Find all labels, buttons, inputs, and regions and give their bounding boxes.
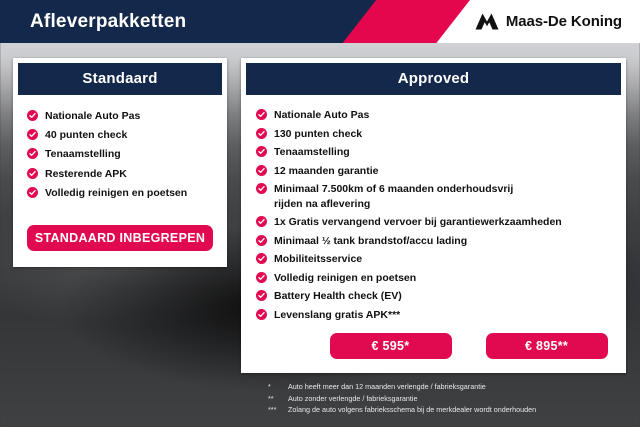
feature-text: Volledig reinigen en poetsen xyxy=(274,271,416,285)
feature-text-line: Nationale Auto Pas xyxy=(274,108,369,122)
feature-item: Volledig reinigen en poetsen xyxy=(256,269,626,288)
footnote-marker: *** xyxy=(268,404,288,416)
feature-text: Resterende APK xyxy=(45,167,127,181)
check-circle-icon xyxy=(256,183,267,194)
check-circle-icon xyxy=(27,187,38,198)
feature-text: Tenaamstelling xyxy=(274,145,350,159)
footnote-row: *Auto heeft meer dan 12 maanden verlengd… xyxy=(268,381,628,393)
feature-text-line: Levenslang gratis APK*** xyxy=(274,308,400,322)
feature-text-line: rijden na aflevering xyxy=(274,197,513,211)
feature-text-line: 40 punten check xyxy=(45,128,127,142)
feature-text: Minimaal 7.500km of 6 maanden onderhouds… xyxy=(274,182,513,210)
feature-text: Mobiliteitsservice xyxy=(274,252,362,266)
feature-item: Nationale Auto Pas xyxy=(256,106,626,125)
feature-item: Tenaamstelling xyxy=(256,143,626,162)
feature-item: Minimaal ½ tank brandstof/accu lading xyxy=(256,231,626,250)
page-title: Afleverpakketten xyxy=(30,0,186,43)
footnote-text: Auto zonder verlengde / fabrieksgarantie xyxy=(288,393,417,405)
feature-text-line: Volledig reinigen en poetsen xyxy=(45,186,187,200)
feature-text-line: Tenaamstelling xyxy=(45,147,121,161)
footnote-text: Auto heeft meer dan 12 maanden verlengde… xyxy=(288,381,486,393)
feature-text-line: 130 punten check xyxy=(274,127,362,141)
card-title-approved: Approved xyxy=(246,63,621,95)
feature-text-line: 1x Gratis vervangend vervoer bij garanti… xyxy=(274,215,562,229)
check-circle-icon xyxy=(256,309,267,320)
check-circle-icon xyxy=(256,128,267,139)
feature-item: Battery Health check (EV) xyxy=(256,287,626,306)
check-circle-icon xyxy=(27,168,38,179)
price-button-2[interactable]: € 895** xyxy=(486,333,608,359)
feature-item: Mobiliteitsservice xyxy=(256,250,626,269)
feature-item: Tenaamstelling xyxy=(27,145,227,164)
feature-item: 12 maanden garantie xyxy=(256,162,626,181)
feature-text: Minimaal ½ tank brandstof/accu lading xyxy=(274,234,467,248)
feature-text: 130 punten check xyxy=(274,127,362,141)
check-circle-icon xyxy=(27,129,38,140)
feature-text: Nationale Auto Pas xyxy=(45,109,140,123)
check-circle-icon xyxy=(27,148,38,159)
check-circle-icon xyxy=(256,272,267,283)
brand-lockup: Maas-De Koning xyxy=(475,0,622,43)
page-header: Afleverpakketten Maas-De Koning xyxy=(0,0,640,43)
check-circle-icon xyxy=(256,109,267,120)
feature-text: 40 punten check xyxy=(45,128,127,142)
check-circle-icon xyxy=(256,253,267,264)
card-title-standaard: Standaard xyxy=(18,63,222,95)
feature-text: 12 maanden garantie xyxy=(274,164,378,178)
feature-list-approved: Nationale Auto Pas130 punten checkTenaam… xyxy=(241,95,626,324)
standaard-inbegrepen-button[interactable]: STANDAARD INBEGREPEN xyxy=(27,225,213,251)
feature-text-line: Minimaal ½ tank brandstof/accu lading xyxy=(274,234,467,248)
feature-item: Levenslang gratis APK*** xyxy=(256,306,626,325)
feature-text: Levenslang gratis APK*** xyxy=(274,308,400,322)
check-circle-icon xyxy=(256,216,267,227)
feature-item: 40 punten check xyxy=(27,125,227,144)
feature-text: Volledig reinigen en poetsen xyxy=(45,186,187,200)
check-circle-icon xyxy=(256,235,267,246)
feature-item: Minimaal 7.500km of 6 maanden onderhouds… xyxy=(256,180,626,213)
check-circle-icon xyxy=(256,165,267,176)
check-circle-icon xyxy=(256,290,267,301)
footnote-row: **Auto zonder verlengde / fabrieksgarant… xyxy=(268,393,628,405)
footnote-text: Zolang de auto volgens fabrieksschema bi… xyxy=(288,404,536,416)
footnote-marker: * xyxy=(268,381,288,393)
price-button-row: € 595*€ 895** xyxy=(241,333,626,359)
feature-text-line: Tenaamstelling xyxy=(274,145,350,159)
feature-text: Battery Health check (EV) xyxy=(274,289,402,303)
feature-text-line: Resterende APK xyxy=(45,167,127,181)
feature-text-line: Nationale Auto Pas xyxy=(45,109,140,123)
brand-name: Maas-De Koning xyxy=(506,13,622,30)
price-button-1[interactable]: € 595* xyxy=(330,333,452,359)
feature-text: Nationale Auto Pas xyxy=(274,108,369,122)
feature-item: 1x Gratis vervangend vervoer bij garanti… xyxy=(256,213,626,232)
footnotes-block: *Auto heeft meer dan 12 maanden verlengd… xyxy=(268,381,628,416)
check-circle-icon xyxy=(256,146,267,157)
maas-de-koning-m-logo-icon xyxy=(475,13,499,30)
feature-item: Volledig reinigen en poetsen xyxy=(27,183,227,202)
feature-text: 1x Gratis vervangend vervoer bij garanti… xyxy=(274,215,562,229)
package-card-standaard: Standaard Nationale Auto Pas40 punten ch… xyxy=(13,58,227,267)
screenshot-root: Afleverpakketten Maas-De Koning Standaar… xyxy=(0,0,640,427)
footnote-marker: ** xyxy=(268,393,288,405)
feature-text-line: Mobiliteitsservice xyxy=(274,252,362,266)
feature-text-line: Volledig reinigen en poetsen xyxy=(274,271,416,285)
feature-item: Nationale Auto Pas xyxy=(27,106,227,125)
check-circle-icon xyxy=(27,110,38,121)
footnote-row: ***Zolang de auto volgens fabrieksschema… xyxy=(268,404,628,416)
feature-text-line: Minimaal 7.500km of 6 maanden onderhouds… xyxy=(274,182,513,196)
feature-text-line: 12 maanden garantie xyxy=(274,164,378,178)
feature-list-standaard: Nationale Auto Pas40 punten checkTenaams… xyxy=(13,95,227,203)
feature-text-line: Battery Health check (EV) xyxy=(274,289,402,303)
feature-item: Resterende APK xyxy=(27,164,227,183)
feature-item: 130 punten check xyxy=(256,125,626,144)
package-card-approved: Approved Nationale Auto Pas130 punten ch… xyxy=(241,58,626,373)
feature-text: Tenaamstelling xyxy=(45,147,121,161)
